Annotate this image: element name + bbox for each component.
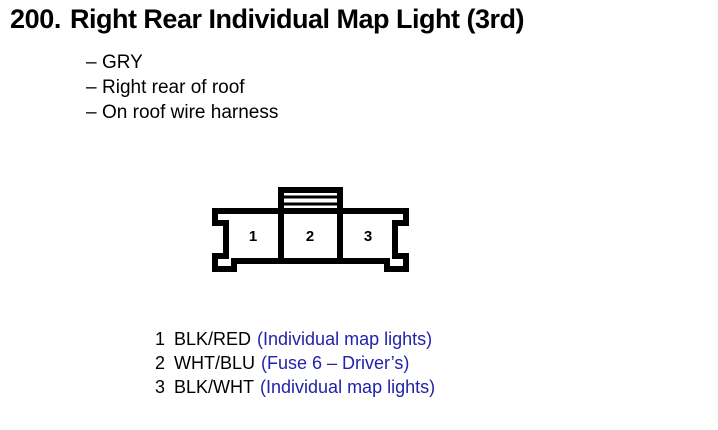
legend-wire-code: BLK/RED — [174, 329, 251, 350]
legend-pin-number: 1 — [155, 329, 174, 350]
page-title: 200. Right Rear Individual Map Light (3r… — [10, 4, 716, 36]
legend-pin-number: 2 — [155, 353, 174, 374]
legend-wire-code: BLK/WHT — [174, 377, 254, 398]
legend-pin-number: 3 — [155, 377, 174, 398]
legend-description: (Individual map lights) — [257, 329, 432, 350]
list-item-label: On roof wire harness — [102, 102, 278, 124]
detail-list: – GRY – Right rear of roof – On roof wir… — [86, 52, 586, 127]
list-item: – On roof wire harness — [86, 102, 586, 127]
connector-pin-number: 2 — [306, 228, 314, 245]
list-item-label: Right rear of roof — [102, 77, 245, 99]
list-item: – GRY — [86, 52, 586, 77]
page-title-number: 200. — [10, 4, 61, 35]
connector-pin-number: 1 — [249, 228, 257, 245]
list-item: – Right rear of roof — [86, 77, 586, 102]
legend-description: (Individual map lights) — [260, 377, 435, 398]
legend-description: (Fuse 6 – Driver’s) — [261, 353, 409, 374]
pin-legend: 1 BLK/RED (Individual map lights) 2 WHT/… — [155, 329, 675, 401]
legend-row: 3 BLK/WHT (Individual map lights) — [155, 377, 675, 401]
list-item-label: GRY — [102, 52, 143, 74]
legend-row: 1 BLK/RED (Individual map lights) — [155, 329, 675, 353]
page-title-text: Right Rear Individual Map Light (3rd) — [70, 4, 524, 35]
connector-diagram: 1 2 3 — [205, 183, 415, 279]
dash-icon: – — [86, 77, 102, 99]
connector-pin-number: 3 — [364, 228, 372, 245]
dash-icon: – — [86, 52, 102, 74]
wiring-diagram-page: 200. Right Rear Individual Map Light (3r… — [0, 0, 718, 430]
legend-wire-code: WHT/BLU — [174, 353, 255, 374]
connector-illustration-svg: 1 2 3 — [205, 183, 415, 279]
dash-icon: – — [86, 102, 102, 124]
legend-row: 2 WHT/BLU (Fuse 6 – Driver’s) — [155, 353, 675, 377]
